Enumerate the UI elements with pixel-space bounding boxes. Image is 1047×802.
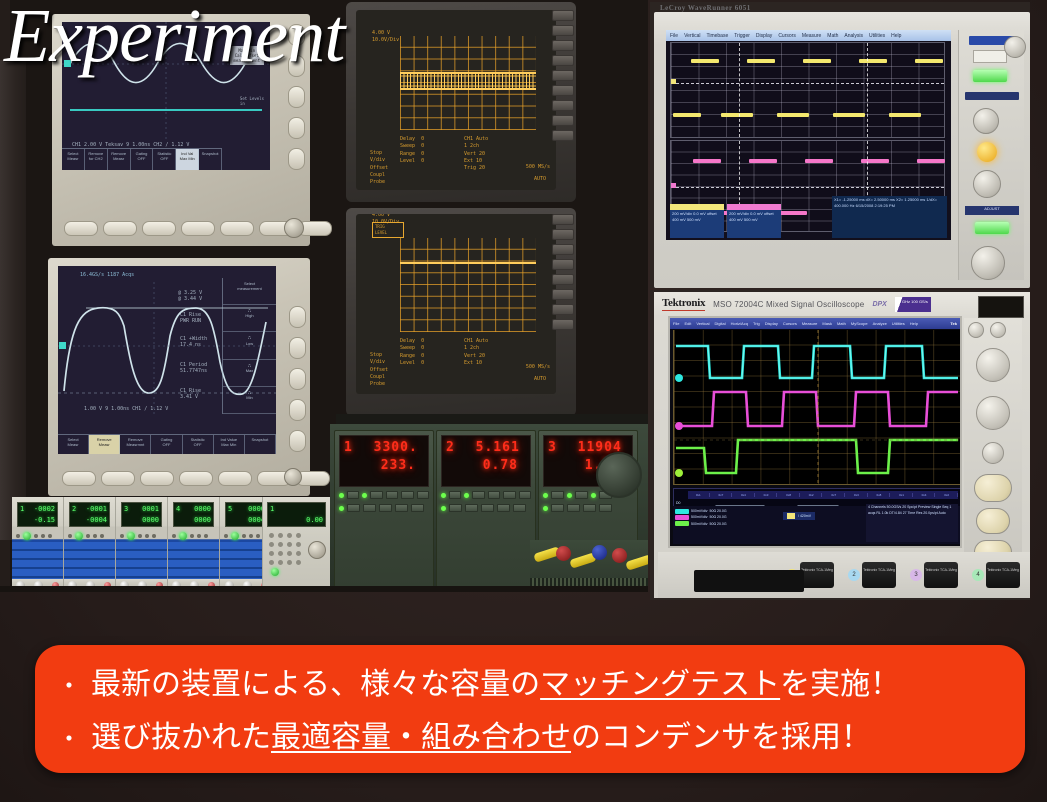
tektronix-logo: Tektronix — [662, 297, 705, 311]
bezel-button[interactable] — [220, 221, 254, 236]
blue-banana-plug — [592, 545, 607, 560]
channel-status-row: 500mV/div 50Ω 20.0G — [675, 521, 767, 527]
bezel-button[interactable] — [552, 25, 574, 36]
adjust-label: ADJUST — [965, 206, 1019, 215]
led-display: 2 5.161 0.78 — [441, 435, 531, 487]
bezel-button[interactable] — [142, 221, 176, 236]
bus-segment: 0x2 — [801, 493, 823, 497]
adjust-led — [975, 222, 1009, 234]
bezel-button[interactable] — [552, 259, 574, 270]
power-led — [231, 532, 239, 540]
multipurpose-knob-b[interactable] — [976, 508, 1010, 534]
menu-item[interactable]: StatisticOFF — [183, 435, 214, 454]
vertical-position-knob[interactable] — [968, 322, 984, 338]
menu-item-timebase[interactable]: Timebase — [706, 33, 728, 39]
bandwidth-badge: 20 GHz 100 GS/s — [895, 297, 931, 312]
probe-number-4: 4 — [972, 569, 984, 581]
bezel-button[interactable] — [181, 221, 215, 236]
side-menu-item[interactable]: ⎍High — [223, 305, 276, 332]
run-led — [973, 70, 1007, 82]
bus-segment: 0x3 — [756, 493, 778, 497]
scope-top-menu[interactable]: SelectMeasr Removefor CH2 RemoveMeasr Ga… — [62, 148, 222, 170]
menu-item[interactable]: GatingOFF — [151, 435, 182, 454]
yellow-pulse — [833, 113, 865, 117]
psu-controls[interactable] — [172, 530, 215, 541]
panel-button[interactable] — [551, 491, 564, 499]
multipurpose-knob-a[interactable] — [974, 474, 1012, 502]
yellow-pulse — [673, 113, 701, 117]
keypad-dot[interactable] — [278, 551, 283, 556]
psu-controller-display: 1 0.00 — [267, 502, 326, 527]
tektronix-model: MSO 72004C Mixed Signal Oscilloscope — [713, 300, 864, 309]
menu-item[interactable]: SelectMeasr — [62, 149, 85, 170]
analog-waveforms — [674, 330, 961, 485]
scope-bottom-knob[interactable] — [284, 468, 302, 486]
psu-channel: 2 — [72, 505, 76, 513]
bezel-button[interactable] — [289, 368, 306, 390]
panel-button[interactable] — [386, 491, 399, 499]
panel-button[interactable] — [379, 504, 392, 512]
control-row[interactable] — [441, 491, 531, 499]
yellow-pulse — [915, 59, 943, 63]
bezel-button[interactable] — [552, 100, 574, 111]
indicator-dot — [256, 534, 260, 538]
magenta-pulse — [693, 159, 721, 163]
plot-grid — [671, 43, 944, 137]
callout-line-1: ・ 最新の装置による、様々な容量の マッチングテスト を実施！ — [57, 659, 999, 712]
bezel-button[interactable] — [552, 304, 574, 315]
page-title: Experiment — [4, 0, 344, 74]
menu-item-cursors[interactable]: Cursors — [783, 321, 797, 326]
tektronix-probe-bay: 1 Tektronix TCA-1Meg 2 Tektronix TCA-1Me… — [658, 552, 1030, 598]
indicator-dot — [249, 534, 253, 538]
psu-value-2: -0.15 — [20, 515, 55, 526]
psu-value-1: 0001 — [142, 504, 159, 515]
rack-side-panel — [0, 60, 26, 540]
keypad-dot[interactable] — [296, 560, 301, 565]
panel-button[interactable] — [973, 50, 1007, 63]
crt-bottom-bezel-buttons[interactable] — [552, 214, 574, 330]
panel-button[interactable] — [449, 504, 462, 512]
menu-item-analysis[interactable]: Analysis — [844, 33, 863, 39]
bezel-button[interactable] — [101, 471, 135, 486]
scope-bottom-screen: 16.4GS/s 1187 Acqs @ 3.25 V@ 3.44 V C1 R… — [58, 266, 276, 454]
bezel-button[interactable] — [64, 221, 98, 236]
indicator-dot — [120, 534, 124, 538]
bezel-button[interactable] — [552, 40, 574, 51]
psu-front-panel — [116, 542, 167, 580]
keypad-dot[interactable] — [287, 533, 292, 538]
status-led — [441, 493, 446, 498]
menu-item-file[interactable]: File — [673, 321, 679, 326]
panel-button[interactable] — [395, 504, 408, 512]
menu-item-math[interactable]: Math — [827, 33, 838, 39]
menu-item[interactable]: StatisticOFF — [153, 149, 176, 170]
keypad-dot[interactable] — [287, 560, 292, 565]
menu-item-file[interactable]: File — [670, 33, 678, 39]
keypad-dot[interactable] — [269, 533, 274, 538]
scope-bottom-side-menu[interactable]: Selectmeasurement ⎍High ⎍Low ⎍Max ⎍Min — [222, 278, 276, 414]
panel-button[interactable] — [551, 504, 564, 512]
trigger-led — [977, 142, 997, 162]
channel1-marker — [671, 79, 676, 84]
panel-button[interactable] — [497, 504, 510, 512]
channel-chip-1 — [675, 509, 689, 514]
menu-item-utilities[interactable]: Utilities — [869, 33, 885, 39]
menu-item-vertical[interactable]: Vertical — [696, 321, 709, 326]
menu-item-display[interactable]: Display — [765, 321, 778, 326]
red-banana-plug — [556, 546, 571, 561]
lecroy-plot-channel1 — [670, 42, 945, 138]
menu-item-help[interactable]: Help — [891, 33, 901, 39]
acquisition-info: 4 Channels 50.0GS/s 20 Spc/pt Preview Si… — [866, 504, 958, 542]
tektronix-mso-oscilloscope-photo: Tektronix MSO 72004C Mixed Signal Oscill… — [650, 290, 1030, 600]
psu-controls[interactable] — [68, 530, 111, 541]
probe-connector[interactable]: 4 Tektronix TCA-1Meg — [972, 562, 1020, 588]
keypad-dot[interactable] — [278, 542, 283, 547]
psu-display: 3 0001 0000 — [121, 502, 162, 527]
control-row[interactable] — [339, 491, 429, 499]
panel-button[interactable] — [465, 504, 478, 512]
cursor-line-1[interactable] — [739, 43, 740, 137]
vertical-scale-knob[interactable] — [990, 322, 1006, 338]
status-led — [441, 506, 446, 511]
side-menu-item[interactable]: ⎍Low — [223, 332, 276, 359]
trigger-status: / 420mV — [783, 512, 815, 520]
bus-segment: 0x7 — [711, 493, 733, 497]
bezel-button[interactable] — [552, 319, 574, 330]
scope-bottom-side-buttons[interactable] — [289, 306, 306, 461]
tektronix-front-panel — [964, 318, 1022, 554]
menu-item-math[interactable]: Math — [837, 321, 846, 326]
horizontal-scale-knob[interactable] — [976, 396, 1010, 430]
rack-base-shadow — [0, 586, 648, 592]
menu-item[interactable]: Ind ValMax Min — [176, 149, 199, 170]
keypad-dot[interactable] — [278, 560, 283, 565]
menu-item-edit[interactable]: Edit — [684, 321, 691, 326]
menu-item[interactable]: RemoveMeasr — [108, 149, 131, 170]
menu-item-horizacq[interactable]: Horiz/Acq — [731, 321, 748, 326]
horizontal-position-knob[interactable] — [976, 348, 1010, 382]
psu-value-2: 0004 — [228, 515, 265, 526]
bezel-button[interactable] — [289, 306, 306, 328]
bezel-button[interactable] — [552, 115, 574, 126]
panel-button[interactable] — [513, 504, 526, 512]
indicator-dot — [242, 534, 246, 538]
digital-oscilloscope-bottom: 16.4GS/s 1187 Acqs @ 3.25 V@ 3.44 V C1 R… — [48, 258, 310, 496]
menu-item-digital[interactable]: Digital — [714, 321, 725, 326]
indicator-dot — [48, 534, 52, 538]
indicator-dot — [152, 534, 156, 538]
indicator-dot — [197, 534, 201, 538]
bus-segment: 0x1 — [688, 493, 710, 497]
crt-bottom-labels-mid: CH1 Auto 1 2ch Vert 20 Ext 10 — [464, 338, 488, 367]
bezel-button[interactable] — [218, 471, 252, 486]
bezel-button[interactable] — [288, 86, 305, 108]
yellow-pulse — [691, 59, 719, 63]
indicator-dot — [224, 534, 228, 538]
bezel-button[interactable] — [288, 148, 305, 170]
corner-knob[interactable] — [1004, 36, 1026, 58]
bus-segment: 0x3 — [846, 493, 868, 497]
yellow-pulse — [803, 59, 831, 63]
psu-controls[interactable] — [120, 530, 163, 541]
menu-item[interactable]: GatingOFF — [131, 149, 154, 170]
panel-button[interactable] — [347, 491, 360, 499]
bezel-button[interactable] — [288, 117, 305, 139]
control-row[interactable] — [543, 504, 633, 512]
status-led — [362, 493, 367, 498]
rotary-knob[interactable] — [596, 452, 642, 498]
led-channel: 1 — [344, 440, 353, 455]
led-controls[interactable] — [441, 491, 531, 584]
side-menu-item[interactable]: ⎍Max — [223, 360, 276, 387]
psu-module: 2 -0001 -0004 — [64, 497, 116, 592]
lecroy-menubar[interactable]: File Vertical Timebase Trigger Display C… — [666, 30, 951, 41]
panel-button[interactable] — [370, 491, 383, 499]
keypad-dot[interactable] — [296, 551, 301, 556]
crt-top-screen: 4.00 V 10.0V/Div Delay 0 Sweep 0 Range 0… — [356, 10, 556, 190]
channel-coupling-3: 50Ω 20.0G — [710, 521, 727, 527]
panel-button[interactable] — [417, 491, 430, 499]
panel-button[interactable] — [567, 504, 580, 512]
bezel-button[interactable] — [140, 471, 174, 486]
keypad-dots[interactable] — [269, 533, 301, 565]
control-row[interactable] — [339, 504, 429, 512]
yellow-pulse — [859, 59, 887, 63]
psu-display: 2 -0001 -0004 — [69, 502, 110, 527]
psu-front-panel — [168, 542, 219, 580]
psu-display: 1 -0002 -0.15 — [17, 502, 58, 527]
panel-button[interactable] — [347, 504, 360, 512]
menu-item-measure[interactable]: Measure — [802, 33, 821, 39]
tektronix-screen: File Edit Vertical Digital Horiz/Acq Tri… — [668, 316, 962, 548]
digital-label-d0: D0 — [676, 501, 680, 505]
panel-button[interactable] — [575, 491, 588, 499]
menu-item-mask[interactable]: Mask — [822, 321, 832, 326]
control-row[interactable] — [441, 504, 531, 512]
status-led — [591, 493, 596, 498]
keypad-dot[interactable] — [269, 542, 274, 547]
yellow-pulse — [889, 113, 921, 117]
psu-value-1: 0000 — [194, 504, 211, 515]
measurement-width: C1 +Width17.4 ns — [180, 336, 207, 348]
indicator-dot — [86, 534, 90, 538]
bezel-button[interactable] — [179, 471, 213, 486]
menu-item[interactable]: Snapshot — [199, 149, 222, 170]
status-led — [339, 506, 344, 511]
led-value-1: 3300. — [374, 440, 418, 455]
power-led — [271, 568, 279, 576]
psu-value-1: -0001 — [86, 504, 107, 515]
bezel-button[interactable] — [552, 130, 574, 141]
panel-button[interactable] — [583, 504, 596, 512]
led-channel: 3 — [548, 440, 557, 455]
psu-rotary-knob[interactable] — [308, 541, 326, 559]
probe-connector[interactable]: 2 Tektronix TCA-1Meg — [848, 562, 896, 588]
psu-channel: 1 — [20, 505, 24, 513]
psu-channel: 1 — [270, 505, 274, 513]
menu-item-utilities[interactable]: Utilities — [892, 321, 905, 326]
bus-segment: 0x8 — [869, 493, 891, 497]
menu-item-cursors[interactable]: Cursors — [778, 33, 796, 39]
indicator-dot — [204, 534, 208, 538]
keypad-dot[interactable] — [269, 551, 274, 556]
keypad-dot[interactable] — [296, 533, 301, 538]
zero-reference-line — [671, 83, 944, 84]
bezel-button[interactable] — [552, 229, 574, 240]
bezel-button[interactable] — [552, 274, 574, 285]
tek-brand-label: Tek — [950, 321, 957, 326]
probe-connector[interactable]: 3 Tektronix TCA-1Meg — [910, 562, 958, 588]
keypad-dot[interactable] — [269, 560, 274, 565]
slide-root: CH1 2.00 V Teksav 9 1.00ns CH2 / 1.12 V … — [0, 0, 1047, 802]
crt-top-corner-text: 4.00 V 10.0V/Div — [372, 30, 399, 45]
trigger-chip — [787, 513, 795, 519]
bus-segment: 0x4 — [733, 493, 755, 497]
menu-item-measure[interactable]: Measure — [802, 321, 818, 326]
power-led — [75, 532, 83, 540]
menu-item-trig[interactable]: Trig — [753, 321, 760, 326]
callout-line2-pre: 選び抜かれた — [91, 712, 271, 764]
keypad-dot[interactable] — [278, 533, 283, 538]
measurement-period: C1 Period51.7747ns — [180, 362, 207, 374]
psu-value-2: 0.00 — [270, 515, 323, 526]
cursor-line-2[interactable] — [867, 43, 868, 137]
tektronix-header: Tektronix MSO 72004C Mixed Signal Oscill… — [662, 297, 970, 311]
status-led — [339, 493, 344, 498]
scope-bottom-menu[interactable]: SelectMeasr RemoveMeasr RemoveMeasrmnt G… — [58, 434, 276, 454]
menu-item[interactable]: RemoveMeasr — [89, 435, 120, 454]
menu-item-help[interactable]: Help — [910, 321, 918, 326]
side-menu-item[interactable]: Selectmeasurement — [223, 278, 276, 305]
callout-line1-post: を実施！ — [780, 659, 900, 711]
module-slot — [694, 570, 804, 592]
bezel-button[interactable] — [552, 70, 574, 81]
led-value-2: 233. — [344, 457, 424, 475]
crt-top-samplerate: 500 MS/s — [526, 164, 550, 171]
horizontal-knob[interactable] — [973, 170, 1001, 198]
crt-bottom-grid — [400, 238, 536, 332]
bezel-button[interactable] — [103, 221, 137, 236]
menu-item-trigger[interactable]: Trigger — [734, 33, 750, 39]
panel-button[interactable] — [599, 504, 612, 512]
lecroy-front-panel: ADJUST — [958, 30, 1024, 280]
indicator-dot — [145, 534, 149, 538]
power-led — [127, 532, 135, 540]
crt-bottom-corner-text: 4.00 V 10.0V/Div — [372, 214, 399, 227]
measurement-rise: C1 RisePWR RUN — [180, 312, 201, 324]
bus-segment: 0x1 — [891, 493, 913, 497]
magenta-pulse — [805, 159, 833, 163]
led-meter-module: 2 5.161 0.78 — [436, 430, 536, 588]
menu-item[interactable]: Removefor CH2 — [85, 149, 108, 170]
crt-top-labels-left: Delay 0 Sweep 0 Range 0 Level 0 — [400, 136, 424, 165]
psu-module: 1 -0002 -0.15 — [12, 497, 64, 592]
zero-reference-line — [671, 187, 944, 188]
bezel-button[interactable] — [552, 10, 574, 21]
bezel-button[interactable] — [552, 289, 574, 300]
menu-item[interactable]: Ind ValueMax Min — [214, 435, 245, 454]
bezel-button[interactable] — [552, 244, 574, 255]
bus-segment: 0x4 — [914, 493, 936, 497]
bezel-button[interactable] — [289, 337, 306, 359]
psu-module: 4 0000 0000 — [168, 497, 220, 592]
bezel-button[interactable] — [289, 430, 306, 452]
vertical-knob[interactable] — [973, 108, 999, 134]
bezel-button[interactable] — [62, 471, 96, 486]
amber-crt-oscilloscope-bottom: TRIG LEVEL 4.00 V 10.0V/Div Delay 0 Swee… — [346, 208, 576, 416]
panel-button[interactable] — [503, 491, 516, 499]
bus-segment: 0x8 — [778, 493, 800, 497]
panel-button[interactable] — [472, 491, 485, 499]
led-channel: 2 — [446, 440, 455, 455]
panel-button[interactable] — [363, 504, 376, 512]
menu-item-display[interactable]: Display — [756, 33, 772, 39]
menu-item-myscope[interactable]: MyScope — [851, 321, 868, 326]
menu-item-analyze[interactable]: Analyze — [873, 321, 887, 326]
led-meter-module: 1 3300. 233. — [334, 430, 434, 588]
yellow-cable — [625, 554, 648, 571]
psu-controller-module: 1 0.00 — [262, 497, 330, 592]
crt-bottom-labels-left: Delay 0 Sweep 0 Range 0 Level 0 — [400, 338, 424, 367]
menu-item[interactable]: SelectMeasr — [58, 435, 89, 454]
crt-top-labels-stack: Stop V/div Offset Coupl Probe — [370, 150, 388, 186]
adjust-knob[interactable] — [971, 246, 1005, 280]
channel-readout-c1: 200 mV/div 0.0 mV offset 400 mV 500 mV — [670, 204, 724, 238]
magenta-pulse — [777, 211, 807, 215]
panel-button[interactable] — [519, 491, 532, 499]
psu-front-panel — [12, 542, 63, 580]
channel-status-list: 500mV/div 50Ω 20.0G 500mV/div 50Ω 20.0G … — [675, 508, 767, 542]
crt-top-bezel-buttons[interactable] — [552, 10, 574, 141]
led-controls[interactable] — [339, 491, 429, 584]
scope-top-knob[interactable] — [284, 218, 304, 238]
scope-bottom-readout: 1.00 V 9 1.00ns CH1 / 1.12 V — [84, 406, 168, 412]
keypad-dot[interactable] — [287, 542, 292, 547]
panel-button[interactable] — [488, 491, 501, 499]
bezel-button[interactable] — [289, 399, 306, 421]
panel-button[interactable] — [411, 504, 424, 512]
side-menu-item[interactable]: ⎍Min — [223, 387, 276, 414]
bezel-button[interactable] — [552, 85, 574, 96]
keypad-dot[interactable] — [287, 551, 292, 556]
bezel-button[interactable] — [552, 55, 574, 66]
crt-bottom-mode: AUTO — [534, 376, 546, 383]
tektronix-status-bar: 500mV/div 50Ω 20.0G 500mV/div 50Ω 20.0G … — [673, 506, 961, 544]
psu-value-2: 0000 — [124, 515, 159, 526]
menu-item-vertical[interactable]: Vertical — [684, 33, 700, 39]
panel-button[interactable] — [481, 504, 494, 512]
yellow-pulse — [721, 113, 753, 117]
keypad-dot[interactable] — [296, 542, 301, 547]
psu-controls[interactable] — [16, 530, 59, 541]
trigger-level-knob[interactable] — [982, 442, 1004, 464]
probe-head: Tektronix TCA-1Meg — [924, 562, 958, 588]
panel-top-knobs[interactable] — [968, 322, 1006, 338]
panel-button[interactable] — [401, 491, 414, 499]
callout-line1-emphasis: マッチングテスト — [540, 659, 780, 711]
status-led — [567, 493, 572, 498]
tektronix-analog-plot — [673, 330, 961, 485]
bezel-button[interactable] — [552, 214, 574, 225]
menu-item[interactable]: RemoveMeasrmnt — [120, 435, 151, 454]
menu-item[interactable]: Snapshot — [245, 435, 276, 454]
panel-button[interactable] — [449, 491, 462, 499]
tektronix-menubar[interactable]: File Edit Vertical Digital Horiz/Acq Tri… — [670, 318, 960, 329]
indicator-dot — [93, 534, 97, 538]
callout-line2-post: のコンデンサを採用！ — [571, 712, 871, 764]
